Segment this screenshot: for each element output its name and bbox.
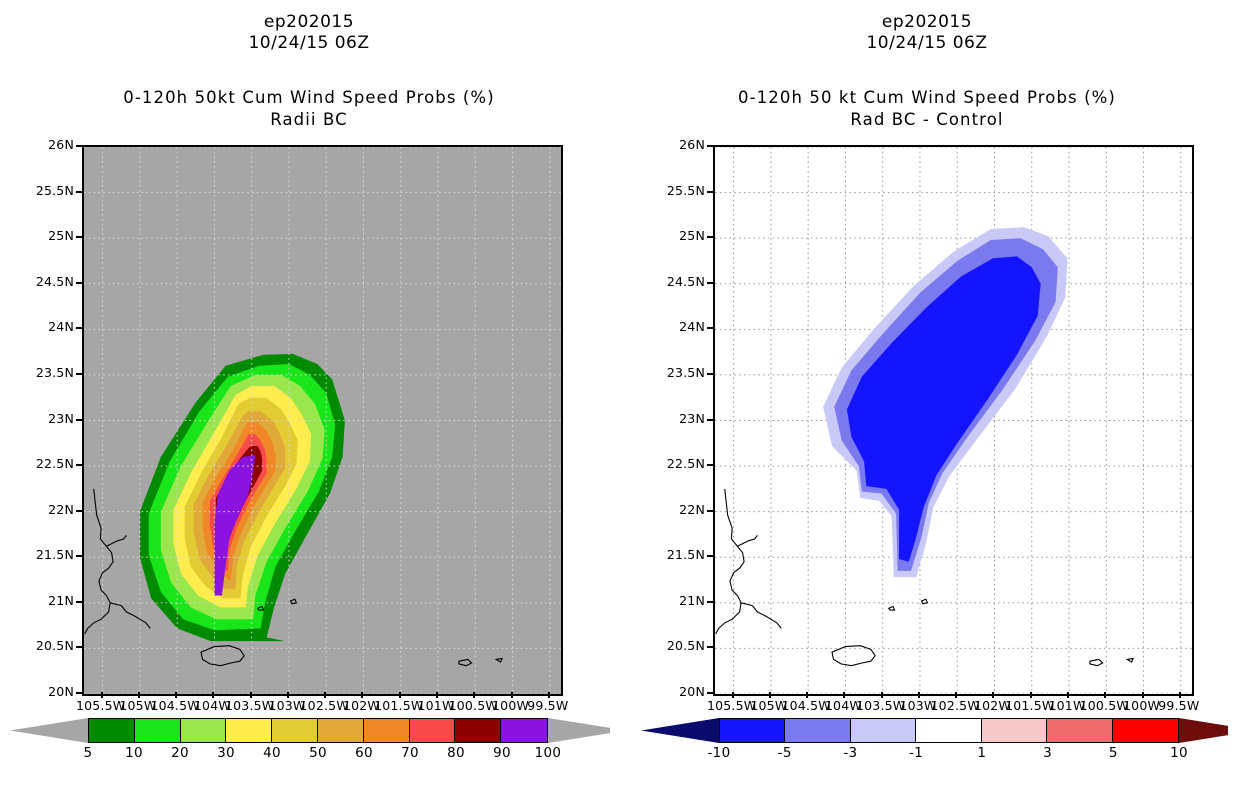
y-axis-tick — [707, 191, 713, 193]
x-axis-tick — [101, 692, 103, 698]
y-axis-tick — [76, 191, 82, 193]
colorbar-swatch — [1047, 719, 1112, 742]
right-title-sub: Rad BC - Control — [618, 110, 1236, 129]
x-axis-tick — [769, 692, 771, 698]
y-axis-tick — [707, 236, 713, 238]
x-axis-tick — [992, 692, 994, 698]
colorbar-swatch — [501, 719, 547, 742]
x-axis-tick-label: 99.5W — [518, 698, 578, 713]
x-axis-tick — [1104, 692, 1106, 698]
y-axis-tick — [707, 282, 713, 284]
y-axis-tick — [76, 419, 82, 421]
y-axis-tick-label: 24N — [20, 319, 74, 334]
y-axis-tick — [707, 692, 713, 694]
y-axis-tick-label: 25.5N — [651, 183, 705, 198]
x-axis-tick — [436, 692, 438, 698]
left-storm-id: ep202015 — [0, 12, 618, 32]
colorbar-swatch — [272, 719, 318, 742]
x-axis-tick — [324, 692, 326, 698]
x-axis-tick — [1179, 692, 1181, 698]
y-axis-tick-label: 26N — [651, 137, 705, 152]
x-axis-tick — [548, 692, 550, 698]
y-axis-tick-label: 24.5N — [20, 274, 74, 289]
colorbar-swatch — [226, 719, 272, 742]
x-axis-tick — [175, 692, 177, 698]
y-axis-tick — [76, 510, 82, 512]
colorbar-swatch — [982, 719, 1047, 742]
y-axis-tick — [707, 510, 713, 512]
left-plot-area — [82, 145, 563, 696]
x-axis-tick-label: 99.5W — [1149, 698, 1209, 713]
x-axis-tick — [1067, 692, 1069, 698]
y-axis-tick-label: 21.5N — [20, 547, 74, 562]
y-axis-tick — [76, 373, 82, 375]
x-axis-tick — [212, 692, 214, 698]
colorbar-swatch — [455, 719, 501, 742]
colorbar-swatch — [364, 719, 410, 742]
colorbar-tick-label: 80 — [434, 745, 478, 761]
y-axis-tick-label: 23.5N — [20, 365, 74, 380]
y-axis-tick-label: 22N — [651, 502, 705, 517]
colorbar-tick-label: 10 — [1157, 745, 1201, 761]
y-axis-tick-label: 24.5N — [651, 274, 705, 289]
colorbar-swatch — [181, 719, 227, 742]
x-axis-tick — [511, 692, 513, 698]
left-date: 10/24/15 06Z — [0, 33, 618, 53]
left-colorbar-group: 5102030405060708090100 — [10, 718, 610, 768]
y-axis-tick-label: 22.5N — [651, 456, 705, 471]
colorbar-tick-label: -5 — [763, 745, 807, 761]
colorbar-swatch — [318, 719, 364, 742]
y-axis-tick — [76, 601, 82, 603]
colorbar-over-arrow — [548, 718, 610, 743]
left-title-sub: Radii BC — [0, 110, 618, 129]
y-axis-tick-label: 22N — [20, 502, 74, 517]
y-axis-tick — [76, 327, 82, 329]
colorbar-swatch — [785, 719, 850, 742]
x-axis-tick — [732, 692, 734, 698]
y-axis-tick — [76, 646, 82, 648]
y-axis-tick-label: 20N — [651, 684, 705, 699]
y-axis-tick-label: 20N — [20, 684, 74, 699]
colorbar-swatch — [1113, 719, 1178, 742]
y-axis-tick-label: 22.5N — [20, 456, 74, 471]
colorbar-tick-label: -3 — [828, 745, 872, 761]
colorbar-under-arrow — [641, 718, 719, 743]
colorbar-tick-label: 70 — [388, 745, 432, 761]
y-axis-tick-label: 25.5N — [20, 183, 74, 198]
y-axis-tick-label: 20.5N — [651, 638, 705, 653]
colorbar-over-arrow — [1179, 718, 1228, 743]
y-axis-tick — [707, 646, 713, 648]
x-axis-tick — [918, 692, 920, 698]
left-title-main: 0-120h 50kt Cum Wind Speed Probs (%) — [0, 88, 618, 107]
y-axis-tick — [76, 282, 82, 284]
y-axis-tick-label: 21N — [20, 593, 74, 608]
right-colorbar-group: -10-5-3-113510 — [628, 718, 1228, 768]
colorbar-tick-label: 100 — [526, 745, 570, 761]
y-axis-tick-label: 23N — [651, 411, 705, 426]
x-axis-tick — [1030, 692, 1032, 698]
colorbar-swatch — [916, 719, 981, 742]
colorbar-swatch — [851, 719, 916, 742]
right-title-main: 0-120h 50 kt Cum Wind Speed Probs (%) — [618, 88, 1236, 107]
colorbar-tick-label: 20 — [158, 745, 202, 761]
y-axis-tick-label: 23N — [20, 411, 74, 426]
x-axis-tick — [361, 692, 363, 698]
colorbar-tick-label: 50 — [296, 745, 340, 761]
y-axis-tick — [707, 601, 713, 603]
colorbar-swatch — [410, 719, 456, 742]
colorbar-tick-label: 90 — [480, 745, 524, 761]
right-plot-area — [713, 145, 1194, 696]
colorbar-tick-label: 10 — [112, 745, 156, 761]
x-axis-tick — [881, 692, 883, 698]
x-axis-tick — [473, 692, 475, 698]
x-axis-tick — [843, 692, 845, 698]
x-axis-tick — [806, 692, 808, 698]
y-axis-tick — [707, 555, 713, 557]
y-axis-tick — [707, 145, 713, 147]
y-axis-tick — [76, 555, 82, 557]
colorbar-tick-label: 40 — [250, 745, 294, 761]
y-axis-tick-label: 26N — [20, 137, 74, 152]
colorbar-tick-label: 5 — [66, 745, 110, 761]
y-axis-tick — [707, 464, 713, 466]
colorbar-tick-label: -10 — [697, 745, 741, 761]
y-axis-tick — [76, 145, 82, 147]
y-axis-tick — [76, 464, 82, 466]
y-axis-tick-label: 23.5N — [651, 365, 705, 380]
colorbar-under-arrow — [10, 718, 88, 743]
right-contour-map — [715, 147, 1192, 694]
left-colorbar — [88, 718, 548, 743]
right-date: 10/24/15 06Z — [618, 33, 1236, 53]
colorbar-tick-label: 30 — [204, 745, 248, 761]
y-axis-tick — [76, 692, 82, 694]
colorbar-tick-label: 60 — [342, 745, 386, 761]
panel-left: ep202015 10/24/15 06Z 0-120h 50kt Cum Wi… — [0, 0, 618, 800]
panel-right: ep202015 10/24/15 06Z 0-120h 50 kt Cum W… — [618, 0, 1236, 800]
y-axis-tick-label: 24N — [651, 319, 705, 334]
y-axis-tick-label: 21N — [651, 593, 705, 608]
right-storm-id: ep202015 — [618, 12, 1236, 32]
y-axis-tick — [76, 236, 82, 238]
colorbar-tick-label: 5 — [1091, 745, 1135, 761]
x-axis-tick — [250, 692, 252, 698]
right-colorbar — [719, 718, 1179, 743]
colorbar-tick-label: 1 — [960, 745, 1004, 761]
y-axis-tick — [707, 373, 713, 375]
colorbar-swatch — [720, 719, 785, 742]
x-axis-tick — [955, 692, 957, 698]
colorbar-tick-label: 3 — [1026, 745, 1070, 761]
colorbar-swatch — [135, 719, 181, 742]
colorbar-tick-label: -1 — [894, 745, 938, 761]
x-axis-tick — [1142, 692, 1144, 698]
y-axis-tick-label: 21.5N — [651, 547, 705, 562]
y-axis-tick — [707, 419, 713, 421]
colorbar-swatch — [89, 719, 135, 742]
x-axis-tick — [287, 692, 289, 698]
y-axis-tick-label: 25N — [651, 228, 705, 243]
y-axis-tick-label: 25N — [20, 228, 74, 243]
x-axis-tick — [138, 692, 140, 698]
left-contour-map — [84, 147, 561, 694]
x-axis-tick — [399, 692, 401, 698]
y-axis-tick — [707, 327, 713, 329]
y-axis-tick-label: 20.5N — [20, 638, 74, 653]
